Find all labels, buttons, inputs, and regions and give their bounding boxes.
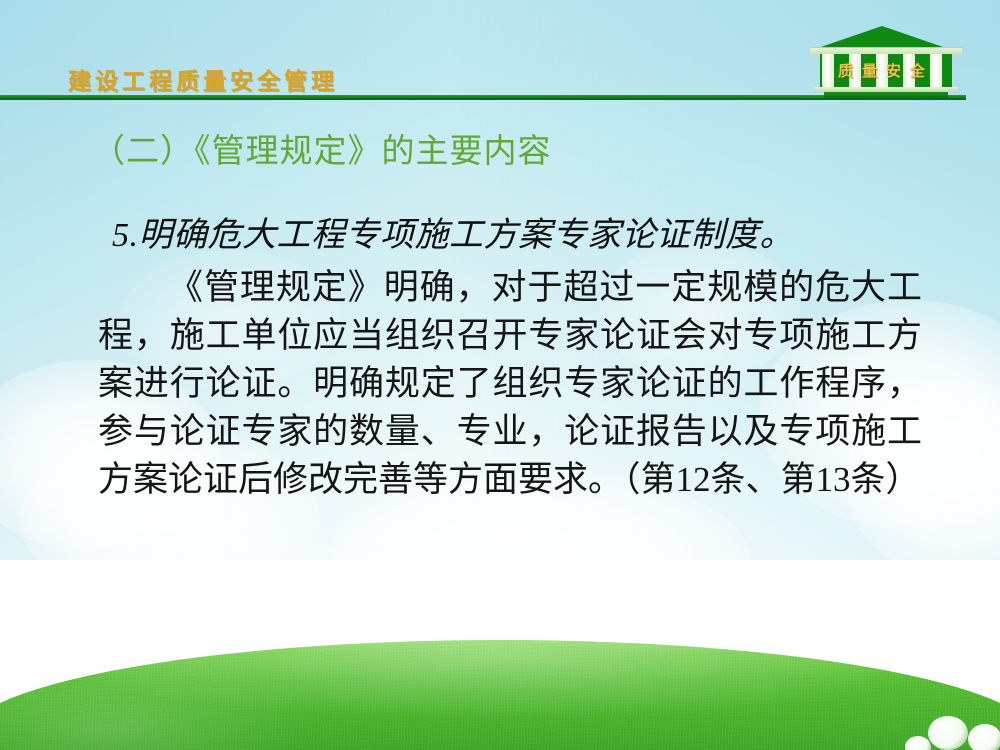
section-title: （二）《管理规定》的主要内容 [92,124,552,172]
body-paragraph: 《管理规定》明确，对于超过一定规模的危大工程，施工单位应当组织召开专家论证会对专… [98,264,922,504]
slide-content: （二）《管理规定》的主要内容 5.明确危大工程专项施工方案专家论证制度。 《管理… [0,0,1000,750]
point-heading: 5.明确危大工程专项施工方案专家论证制度。 [112,207,794,256]
presentation-slide: 建设工程质量安全管理 质量安全 （二）《管理规定》的主要内容 5.明确危大工程专… [0,0,1000,750]
